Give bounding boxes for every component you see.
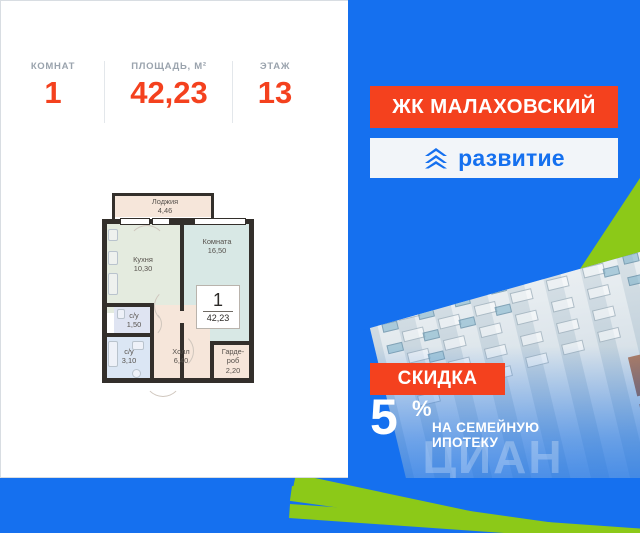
discount-subtitle-line2: ИПОТЕКУ [432,435,498,450]
wall-left-outer [102,219,107,383]
room-livingroom-name: Комната [186,237,248,246]
discount-subtitle-line1: НА СЕМЕЙНУЮ [432,420,539,435]
promo-panel: ЖК МАЛАХОВСКИЙ развитие СКИДКА 5 % НА СЕ… [348,0,640,533]
room-bath2-area: 3,10 [112,356,146,365]
room-label-kitchen: Кухня 10,30 [112,255,174,274]
stat-floor: ЭТАЖ 13 [233,61,317,112]
stat-rooms-value: 1 [1,74,105,112]
window-livingroom [194,218,246,225]
wall-loggia-left [112,193,115,219]
room-hall-area: 6,40 [156,356,206,365]
advertisement-card: ЖК МАЛАХОВСКИЙ развитие СКИДКА 5 % НА СЕ… [0,0,640,533]
wall-bath-top [106,303,154,307]
room-kitchen-name: Кухня [112,255,174,264]
stat-area-value: 42,23 [105,74,233,112]
room-label-livingroom: Комната 16,50 [186,237,248,256]
building-photo [356,196,640,496]
room-kitchen-area: 10,30 [112,264,174,273]
floorplan-card: КОМНАТ 1 ПЛОЩАДЬ, М² 42,23 ЭТАЖ 13 [0,0,348,478]
stat-divider [104,61,105,123]
developer-logo: развитие [370,138,618,178]
wall-wardrobe-top [210,341,254,345]
room-wardrobe-name: Гарде- [214,347,252,356]
bath-toilet-2 [132,369,141,378]
kitchen-counter-1 [108,229,118,241]
badge-area: 42,23 [207,313,230,324]
room-bath1-area: 1,50 [118,320,150,329]
developer-name-text: развитие [458,145,565,172]
room-loggia-area: 4,46 [122,206,208,215]
apartment-stats: КОМНАТ 1 ПЛОЩАДЬ, М² 42,23 ЭТАЖ 13 [1,61,348,133]
stat-area: ПЛОЩАДЬ, М² 42,23 [105,61,233,112]
room-loggia-name: Лоджия [122,197,208,206]
discount-label-text: СКИДКА [398,368,478,390]
room-label-bath1: с/у 1,50 [118,311,150,330]
room-livingroom-area: 16,50 [186,246,248,255]
room-bath2-name: с/у [112,347,146,356]
badge-rooms-count: 1 [213,291,223,310]
wall-loggia-top [112,193,214,196]
room-bath1-name: с/у [118,311,150,320]
stat-rooms: КОМНАТ 1 [1,61,105,112]
complex-name-banner: ЖК МАЛАХОВСКИЙ [370,86,618,128]
stat-area-label: ПЛОЩАДЬ, М² [105,61,233,72]
floor-plan-drawing: Лоджия 4,46 Кухня 10,30 Комната 16,50 с/… [98,193,258,389]
badge-divider [203,311,233,312]
room-label-bath2: с/у 3,10 [112,347,146,366]
green-ray [289,504,640,533]
room-wardrobe-name-2: роб [214,356,252,365]
apartment-summary-badge: 1 42,23 [196,285,240,329]
stat-floor-label: ЭТАЖ [233,61,317,72]
room-label-hall: Холл 6,40 [156,347,206,366]
discount-value: 5 [370,392,398,442]
room-wardrobe-area: 2,20 [214,366,252,375]
discount-details: 5 % НА СЕМЕЙНУЮ ИПОТЕКУ [370,396,560,448]
wall-loggia-right [211,193,214,219]
stat-rooms-label: КОМНАТ [1,61,105,72]
room-label-loggia: Лоджия 4,46 [122,197,208,216]
stat-floor-value: 13 [233,74,317,112]
chevron-up-stack-icon [423,147,449,169]
discount-percent-sign: % [412,396,432,422]
room-label-wardrobe: Гарде- роб 2,20 [214,347,252,375]
window-kitchen [120,218,150,225]
kitchen-counter-2 [108,273,118,295]
bottom-decoration-strip [0,478,640,533]
door-balcony-kitchen [152,218,170,225]
room-hall-name: Холл [156,347,206,356]
complex-name-text: ЖК МАЛАХОВСКИЙ [392,95,596,119]
stat-divider [232,61,233,123]
